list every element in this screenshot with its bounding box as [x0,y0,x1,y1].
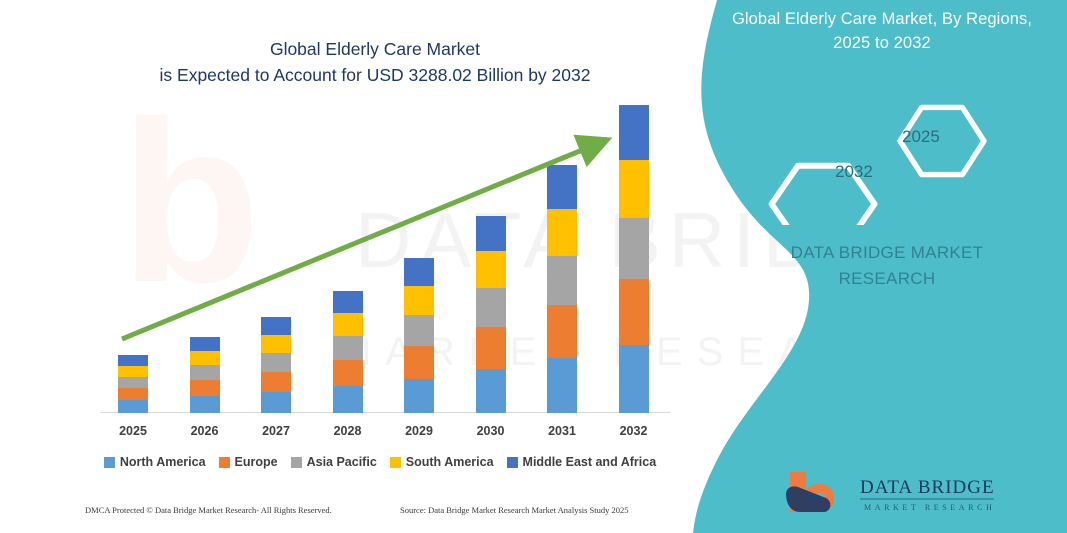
bar-segment-2028-south-america[interactable] [333,313,363,336]
bar-2032[interactable] [619,105,649,413]
footer: DMCA Protected © Data Bridge Market Rese… [0,505,760,527]
bar-segment-2025-asia-pacific[interactable] [118,377,148,388]
bar-segment-2031-north-america[interactable] [547,358,577,413]
bar-segment-2029-europe[interactable] [404,346,434,379]
legend-swatch-icon [219,457,230,468]
bar-segment-2032-north-america[interactable] [619,345,649,413]
legend-swatch-icon [104,457,115,468]
dbmr-logo-mark [786,472,834,512]
bar-2026[interactable] [190,337,220,413]
legend-item-asia-pacific[interactable]: Asia Pacific [291,455,377,469]
bar-segment-2026-middle-east-and-africa[interactable] [190,337,220,351]
bar-segment-2029-asia-pacific[interactable] [404,315,434,346]
bar-segment-2032-south-america[interactable] [619,160,649,218]
bar-segment-2030-middle-east-and-africa[interactable] [476,216,506,251]
x-axis-label-2032: 2032 [604,424,664,438]
footer-source: Source: Data Bridge Market Research Mark… [400,505,629,515]
panel-brand: DATA BRIDGE MARKET RESEARCH [727,240,1047,291]
bar-segment-2031-middle-east-and-africa[interactable] [547,165,577,209]
bar-segment-2030-asia-pacific[interactable] [476,288,506,327]
legend-item-south-america[interactable]: South America [390,455,494,469]
infographic-root: b DATA BRIDGE MARKET RESEARCH Global Eld… [0,0,1067,533]
x-axis-labels: 20252026202720282029203020312032 [0,424,760,446]
bar-segment-2025-north-america[interactable] [118,400,148,413]
legend-item-europe[interactable]: Europe [219,455,278,469]
legend-label: Asia Pacific [307,455,377,469]
x-axis-label-2027: 2027 [246,424,306,438]
legend-label: Europe [235,455,278,469]
bar-segment-2032-middle-east-and-africa[interactable] [619,105,649,160]
bar-segment-2030-south-america[interactable] [476,251,506,288]
bar-segment-2029-middle-east-and-africa[interactable] [404,258,434,286]
hexagon-label-2025: 2025 [902,127,940,147]
legend-label: North America [120,455,206,469]
bar-segment-2028-europe[interactable] [333,360,363,386]
bar-segment-2027-north-america[interactable] [261,392,291,413]
bar-segment-2032-europe[interactable] [619,279,649,345]
bar-segment-2025-europe[interactable] [118,388,148,400]
bar-group [0,0,760,413]
bar-segment-2031-south-america[interactable] [547,209,577,256]
hexagon-group: 2025 2032 [747,95,1047,225]
bar-segment-2025-middle-east-and-africa[interactable] [118,355,148,366]
bar-segment-2025-south-america[interactable] [118,366,148,377]
x-axis-label-2030: 2030 [461,424,521,438]
bar-segment-2029-south-america[interactable] [404,286,434,315]
panel-brand-line-2: RESEARCH [839,269,936,288]
x-axis-label-2031: 2031 [532,424,592,438]
bar-segment-2028-middle-east-and-africa[interactable] [333,291,363,313]
bar-2030[interactable] [476,216,506,413]
hexagon-label-2032: 2032 [835,162,873,182]
x-axis-label-2025: 2025 [103,424,163,438]
panel-brand-line-1: DATA BRIDGE MARKET [791,243,984,262]
dbmr-logo: DATA BRIDGE MARKET RESEARCH [782,468,1012,520]
x-axis-label-2028: 2028 [318,424,378,438]
bar-segment-2031-asia-pacific[interactable] [547,256,577,305]
bar-2031[interactable] [547,165,577,413]
legend-item-north-america[interactable]: North America [104,455,206,469]
right-panel: Global Elderly Care Market, By Regions, … [687,0,1067,533]
bar-segment-2028-north-america[interactable] [333,386,363,413]
bar-segment-2026-south-america[interactable] [190,351,220,365]
bar-2027[interactable] [261,317,291,413]
bar-segment-2027-asia-pacific[interactable] [261,353,291,372]
bar-chart [0,0,760,470]
bar-segment-2032-asia-pacific[interactable] [619,218,649,279]
bar-segment-2027-middle-east-and-africa[interactable] [261,317,291,335]
bar-segment-2026-north-america[interactable] [190,396,220,413]
bar-segment-2026-asia-pacific[interactable] [190,365,220,380]
footer-copyright: DMCA Protected © Data Bridge Market Rese… [85,505,332,515]
legend-item-middle-east-and-africa[interactable]: Middle East and Africa [507,455,657,469]
bar-segment-2027-europe[interactable] [261,372,291,392]
bar-2025[interactable] [118,355,148,413]
x-axis-label-2029: 2029 [389,424,449,438]
legend-label: South America [406,455,494,469]
bar-segment-2030-north-america[interactable] [476,369,506,413]
bar-segment-2030-europe[interactable] [476,327,506,369]
bar-segment-2026-europe[interactable] [190,380,220,396]
dbmr-logo-subtitle: MARKET RESEARCH [864,503,995,512]
bar-segment-2029-north-america[interactable] [404,379,434,413]
legend-swatch-icon [390,457,401,468]
bar-2029[interactable] [404,258,434,413]
dbmr-logo-title: DATA BRIDGE [860,477,995,498]
bar-segment-2027-south-america[interactable] [261,335,291,353]
panel-title: Global Elderly Care Market, By Regions, … [717,8,1047,56]
legend-swatch-icon [291,457,302,468]
bar-segment-2031-europe[interactable] [547,305,577,358]
chart-legend: North AmericaEuropeAsia PacificSouth Ame… [0,455,760,469]
legend-label: Middle East and Africa [523,455,657,469]
legend-swatch-icon [507,457,518,468]
x-axis-label-2026: 2026 [175,424,235,438]
bar-2028[interactable] [333,291,363,413]
bar-segment-2028-asia-pacific[interactable] [333,336,363,360]
